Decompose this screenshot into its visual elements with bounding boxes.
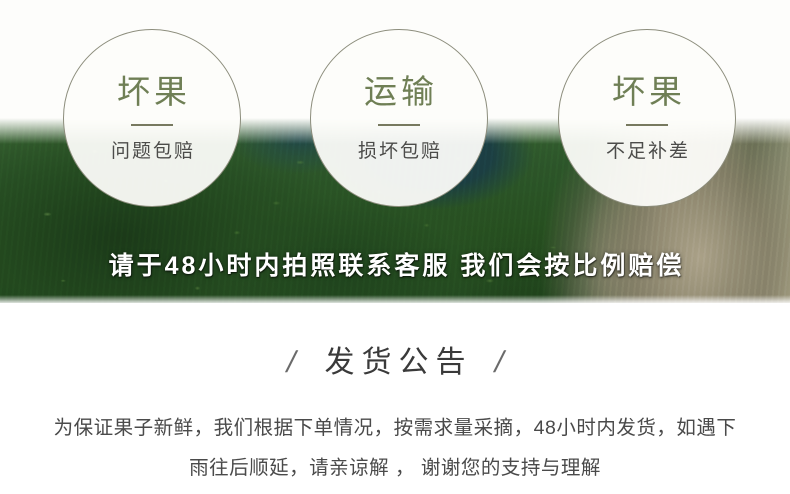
guarantee-title: 坏果: [113, 75, 191, 108]
divider-line: [378, 124, 420, 126]
divider-line: [626, 124, 668, 126]
notice-body-line: 雨往后顺延，请亲谅解 ， 谢谢您的支持与理解: [0, 448, 790, 488]
slash-right-icon: /: [494, 348, 503, 378]
guarantee-subtitle: 问题包赔: [109, 142, 195, 161]
claim-instruction-banner: 请于48小时内拍照联系客服 我们会按比例赔偿: [0, 250, 790, 282]
divider-line: [131, 124, 173, 126]
notice-heading: / 发货公告 /: [0, 348, 790, 378]
notice-body: 为保证果子新鲜，我们根据下单情况，按需求量采摘，48小时内发货，如遇下 雨往后顺…: [0, 408, 790, 488]
promo-page: 坏果 问题包赔 运输 损坏包赔 坏果 不足补差 请于48小时内拍照联系客服 我们…: [0, 0, 790, 494]
guarantee-title: 坏果: [608, 75, 686, 108]
photo-bottom-fade: [0, 295, 790, 303]
guarantee-circle-bad-fruit: 坏果 问题包赔: [63, 29, 241, 207]
slash-left-icon: /: [287, 348, 296, 378]
guarantee-circle-shipping: 运输 损坏包赔: [310, 29, 488, 207]
guarantee-subtitle: 不足补差: [604, 142, 690, 161]
hero-section: 坏果 问题包赔 运输 损坏包赔 坏果 不足补差 请于48小时内拍照联系客服 我们…: [0, 0, 790, 303]
notice-title: 发货公告: [318, 348, 473, 378]
guarantee-subtitle: 损坏包赔: [356, 142, 442, 161]
guarantee-circle-shortage: 坏果 不足补差: [558, 29, 736, 207]
guarantee-title: 运输: [360, 75, 438, 108]
notice-body-line: 为保证果子新鲜，我们根据下单情况，按需求量采摘，48小时内发货，如遇下: [0, 408, 790, 448]
shipping-notice-section: / 发货公告 / 为保证果子新鲜，我们根据下单情况，按需求量采摘，48小时内发货…: [0, 303, 790, 494]
